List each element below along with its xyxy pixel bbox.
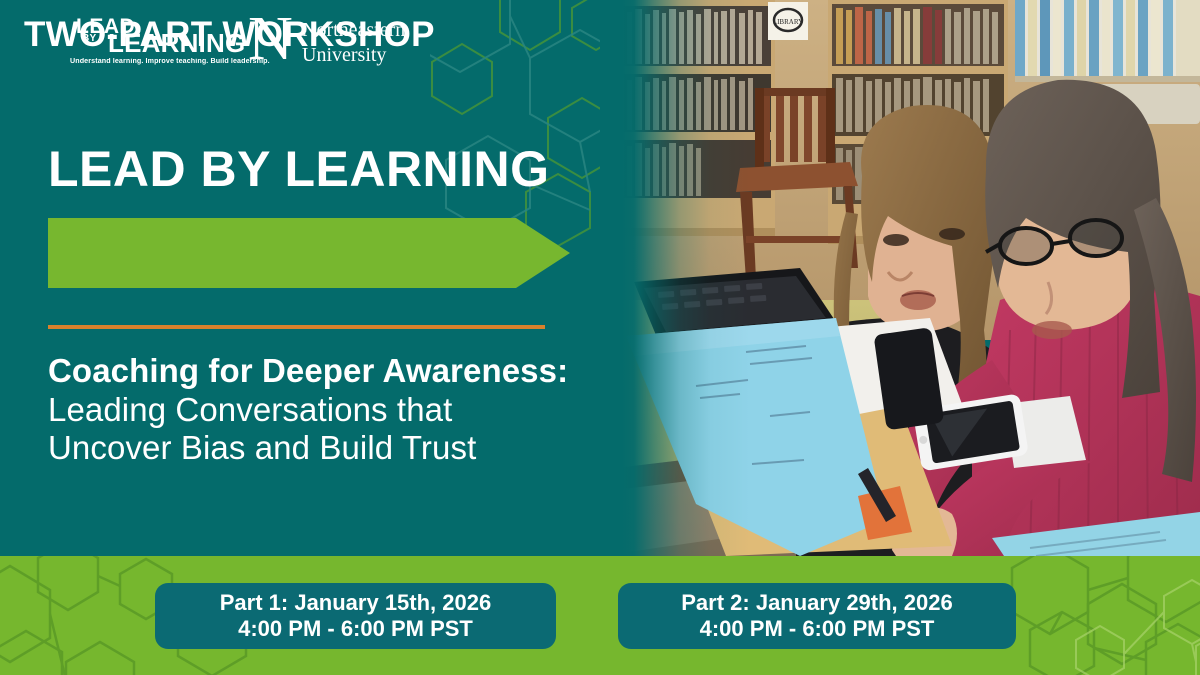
session-2-card: Part 2: January 29th, 2026 4:00 PM - 6:0…	[618, 583, 1016, 649]
two-part-workshop-banner	[48, 218, 570, 288]
banner-label: TWO-PART WORKSHOP	[24, 0, 435, 70]
workshop-title-bold: Coaching for Deeper Awareness:	[48, 352, 568, 389]
page-title: LEAD BY LEARNING	[48, 144, 550, 194]
session-2-time: 4:00 PM - 6:00 PM PST	[700, 616, 935, 642]
workshop-title: Coaching for Deeper Awareness: Leading C…	[48, 352, 578, 468]
orange-divider	[48, 325, 545, 329]
session-1-card: Part 1: January 15th, 2026 4:00 PM - 6:0…	[155, 583, 556, 649]
session-1-time: 4:00 PM - 6:00 PM PST	[238, 616, 473, 642]
session-dates-band: Part 1: January 15th, 2026 4:00 PM - 6:0…	[0, 556, 1200, 675]
promo-graphic: LIBRARY	[0, 0, 1200, 675]
session-2-date: Part 2: January 29th, 2026	[681, 590, 952, 616]
workshop-photo: LIBRARY	[600, 0, 1200, 556]
workshop-title-rest: Leading Conversations that Uncover Bias …	[48, 391, 476, 467]
photo-teal-fade	[600, 0, 1200, 556]
session-1-date: Part 1: January 15th, 2026	[220, 590, 491, 616]
